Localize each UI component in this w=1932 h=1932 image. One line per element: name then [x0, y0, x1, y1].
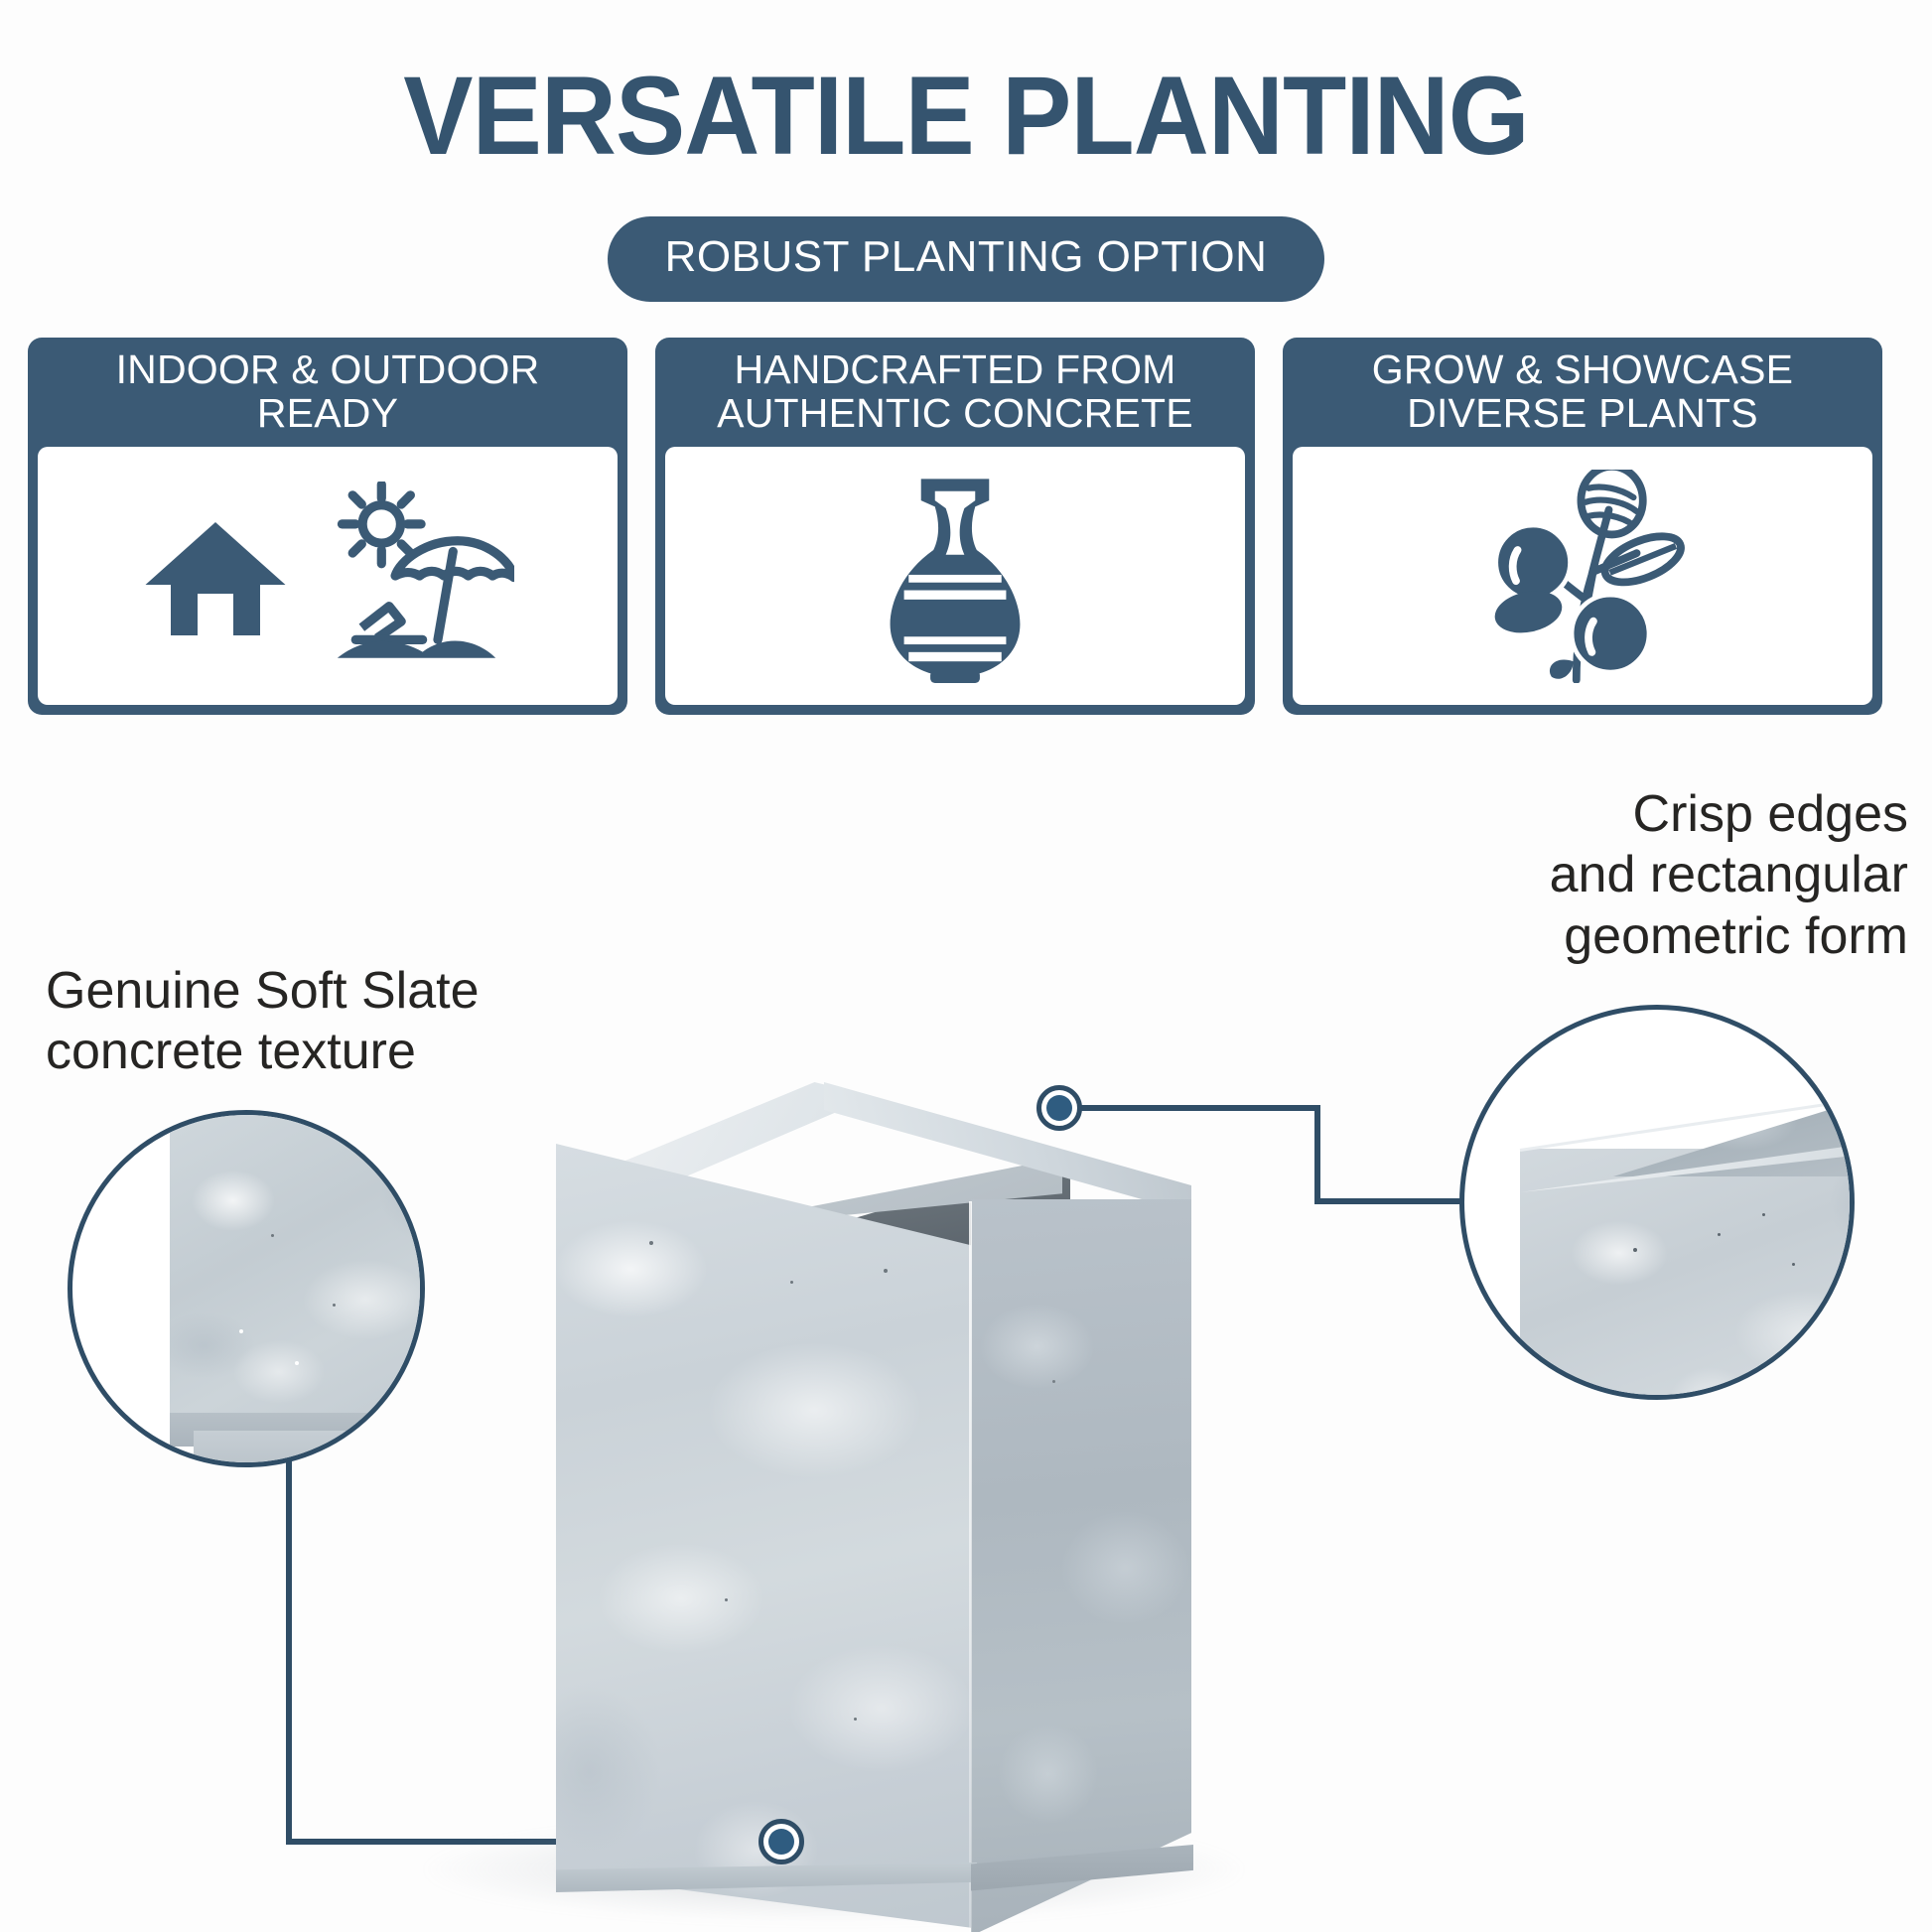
- rim-edge-closeup: [1464, 1010, 1850, 1395]
- detail-circle-concrete-texture: [68, 1110, 425, 1467]
- feature-card-title: GROW & SHOWCASE DIVERSE PLANTS: [1283, 338, 1882, 445]
- card-title-line1: HANDCRAFTED FROM: [734, 346, 1175, 392]
- annotation-right-label: Crisp edges and rectangular geometric fo…: [1273, 784, 1908, 967]
- house-icon: [141, 501, 290, 650]
- feature-card-title: INDOOR & OUTDOOR READY: [28, 338, 627, 445]
- feature-card-icons: [38, 447, 618, 705]
- infographic-canvas: VERSATILE PLANTING ROBUST PLANTING OPTIO…: [0, 0, 1932, 1932]
- connector-right-vertical: [1314, 1105, 1320, 1204]
- card-title-line2: AUTHENTIC CONCRETE: [717, 390, 1193, 436]
- beach-umbrella-icon: [316, 482, 514, 670]
- vase-icon: [862, 470, 1048, 683]
- annotation-left-label: Genuine Soft Slate concrete texture: [46, 961, 602, 1083]
- connector-left-vertical: [286, 1457, 292, 1845]
- detail-circle-rim-edge: [1459, 1005, 1855, 1400]
- concrete-texture-closeup: [72, 1115, 420, 1462]
- feature-card-handcrafted: HANDCRAFTED FROM AUTHENTIC CONCRETE: [655, 338, 1255, 715]
- card-title-line2: READY: [257, 390, 398, 436]
- feature-card-indoor-outdoor: INDOOR & OUTDOOR READY: [28, 338, 627, 715]
- annotation-right-line3: geometric form: [1273, 906, 1908, 967]
- berry-branch-icon: [1478, 470, 1687, 683]
- annotation-right-line1: Crisp edges: [1273, 784, 1908, 845]
- annotation-left-line2: concrete texture: [46, 1022, 602, 1082]
- connector-right-horizontal-bottom: [1314, 1198, 1473, 1204]
- feature-card-icons: [665, 447, 1245, 705]
- feature-card-title: HANDCRAFTED FROM AUTHENTIC CONCRETE: [655, 338, 1255, 445]
- square-concrete-planter: [556, 1082, 1191, 1876]
- feature-card-icons: [1293, 447, 1872, 705]
- subtitle-pill-row: ROBUST PLANTING OPTION: [0, 216, 1932, 302]
- card-title-line1: INDOOR & OUTDOOR: [116, 346, 540, 392]
- card-title-line2: DIVERSE PLANTS: [1407, 390, 1758, 436]
- annotation-left-line1: Genuine Soft Slate: [46, 961, 602, 1022]
- feature-card-grow-showcase: GROW & SHOWCASE DIVERSE PLANTS: [1283, 338, 1882, 715]
- callout-dot-concrete-texture[interactable]: [759, 1819, 804, 1864]
- page-title: VERSATILE PLANTING: [58, 58, 1873, 175]
- subtitle-pill: ROBUST PLANTING OPTION: [608, 216, 1325, 302]
- callout-dot-rim-edge[interactable]: [1036, 1085, 1082, 1131]
- card-title-line1: GROW & SHOWCASE: [1372, 346, 1793, 392]
- annotation-right-line2: and rectangular: [1273, 845, 1908, 905]
